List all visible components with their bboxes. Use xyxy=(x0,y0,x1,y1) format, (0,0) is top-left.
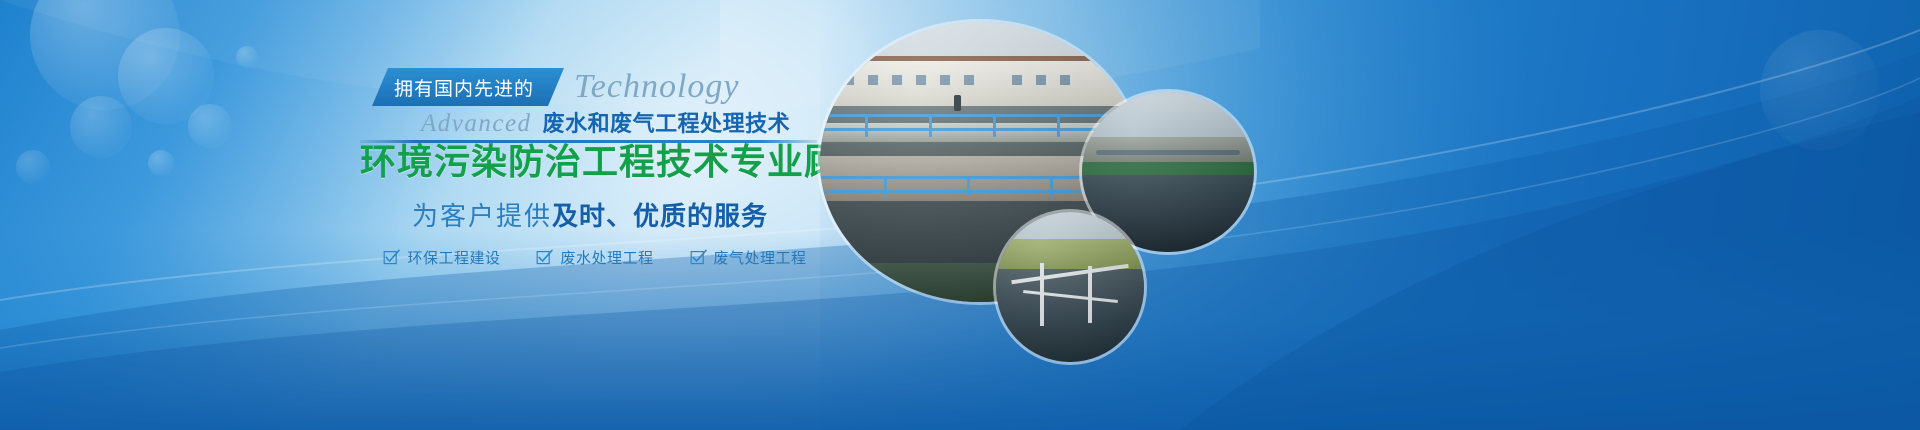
subtitle-strong: 及时、优质的服务 xyxy=(552,202,768,232)
advanced-word: Advanced xyxy=(421,110,532,138)
eyebrow-row: 拥有国内先进的 Technology xyxy=(372,68,740,106)
feature-label: 环保工程建设 xyxy=(407,247,500,268)
subtitle: 为客户提供及时、优质的服务 xyxy=(360,196,820,233)
aeration-walkway-photo xyxy=(996,212,1144,362)
feature-label: 废水处理工程 xyxy=(560,247,653,268)
feature-list: 环保工程建设 废水处理工程 废气处理工程 xyxy=(360,247,830,268)
check-box-icon xyxy=(690,249,707,266)
eyebrow-tag: 拥有国内先进的 xyxy=(372,68,564,106)
feature-item-1: 环保工程建设 xyxy=(383,247,500,268)
subheading-cn: 废水和废气工程处理技术 xyxy=(543,106,791,138)
check-box-icon xyxy=(536,249,553,266)
photo-cluster xyxy=(820,0,1920,430)
feature-item-3: 废气处理工程 xyxy=(690,247,807,268)
feature-label: 废气处理工程 xyxy=(714,247,807,268)
subheading-row: Advanced 废水和废气工程处理技术 xyxy=(372,106,790,140)
technology-word: Technology xyxy=(574,70,740,104)
page-title: 环境污染防治工程技术专业顾问 xyxy=(360,143,820,183)
check-box-icon xyxy=(383,249,400,266)
promo-banner: 拥有国内先进的 Technology Advanced 废水和废气工程处理技术 … xyxy=(0,0,1920,430)
feature-item-2: 废水处理工程 xyxy=(536,247,653,268)
banner-text-block: 拥有国内先进的 Technology Advanced 废水和废气工程处理技术 … xyxy=(0,0,880,430)
subtitle-soft: 为客户提供 xyxy=(412,202,552,232)
